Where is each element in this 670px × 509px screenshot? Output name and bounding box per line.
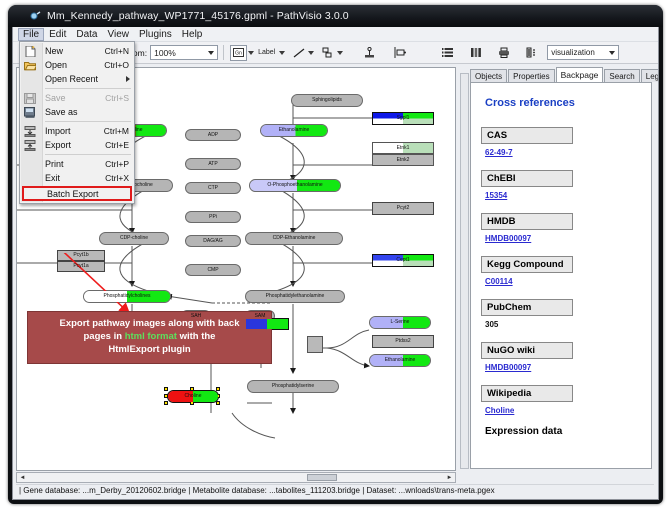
menu-item-open[interactable]: Open Ctrl+O [20,58,134,72]
menu-item-label: Save as [45,107,129,117]
expression-data-heading: Expression data [485,426,651,437]
xref-label: Kegg Compound [481,256,573,273]
align-left-icon[interactable] [391,45,408,61]
menubar: File Edit Data View Plugins Help [13,27,658,42]
panel-scrollbar[interactable] [460,73,469,469]
xref-label: ChEBI [481,170,573,187]
scroll-right-icon[interactable]: ► [444,473,455,482]
xref-label: CAS [481,127,573,144]
receptor-icon[interactable] [319,45,336,61]
visualization-combobox[interactable]: visualization [547,45,619,60]
expression-halo [267,319,288,329]
menu-item-accelerator: Ctrl+N [105,46,134,56]
xref-link[interactable]: Choline [485,406,514,415]
annotation-line3: HtmlExport plugin [108,344,190,355]
menu-separator [45,88,131,89]
menu-edit[interactable]: Edit [44,28,71,41]
node-choline-selected[interactable]: Choline [167,390,219,403]
menu-item-accelerator: Ctrl+O [104,60,134,70]
menu-item-accelerator: Ctrl+E [105,140,134,150]
menu-item-label: Batch Export [47,189,125,199]
save-icon [24,93,36,104]
window-titlebar: Mm_Kennedy_pathway_WP1771_45176.gpml - P… [8,5,663,27]
annotation-line2-highlight: html format [125,331,177,342]
print-icon[interactable] [495,45,512,61]
menu-item-accelerator: Ctrl+S [105,93,134,103]
chevron-down-icon [609,51,615,55]
xref-link[interactable]: 15354 [485,191,507,200]
scroll-left-icon[interactable]: ◄ [17,473,28,482]
xref-value[interactable]: 15354 [485,191,651,200]
xref-link[interactable]: HMDB00097 [485,363,531,372]
new-file-icon [24,46,36,57]
anchor-icon[interactable] [361,45,378,61]
menu-view[interactable]: View [102,28,134,41]
menu-item-import[interactable]: Import Ctrl+M [20,124,134,138]
menu-item-label: Open [45,60,104,70]
resize-handle[interactable] [216,401,220,405]
menu-file[interactable]: File [18,28,44,41]
node-etnk1[interactable]: Etnk1 [372,142,434,154]
node-etnk2[interactable]: Etnk2 [372,154,434,166]
pathvisio-icon [30,11,41,22]
chevron-down-icon[interactable] [337,51,343,55]
backpage-content: Cross references CAS 62-49-7 ChEBI 15354… [470,82,652,469]
tab-legend[interactable]: Legend [641,69,659,82]
menu-item-label: Export [45,140,105,150]
menu-item-accelerator: Ctrl+M [104,126,134,136]
cross-references-heading: Cross references [485,97,651,109]
window-title: Mm_Kennedy_pathway_WP1771_45176.gpml - P… [47,10,349,22]
node-sgpl1[interactable]: Sgpl1 [372,112,434,125]
chevron-down-icon[interactable] [279,51,285,55]
visualization-value: visualization [551,48,595,57]
node-ctp[interactable]: CTP [185,182,241,194]
resize-handle[interactable] [216,387,220,391]
xref-value: 305 [485,320,651,329]
zoom-combobox[interactable]: 100% [150,45,218,60]
table-icon[interactable] [467,45,484,61]
node-cdp-choline[interactable]: CDP-choline [99,232,169,245]
chevron-down-icon [208,51,214,55]
save-as-icon [24,107,36,118]
xref-row-chebi: ChEBI 15354 [481,168,651,200]
label-button[interactable]: Label [258,49,275,56]
xref-link[interactable]: HMDB00097 [485,234,531,243]
sidebar-icon[interactable] [523,45,540,61]
xref-row-kegg: Kegg Compound C00114 [481,254,651,286]
menu-item-batch-export[interactable]: Batch Export [22,186,132,201]
menu-item-label: Open Recent [45,74,126,84]
line-icon[interactable] [290,45,307,61]
panel-tabs: Objects Properties Backpage Search Legen… [470,67,654,82]
xref-value[interactable]: Choline [485,406,651,415]
node-ethanolamine-bottom[interactable]: Ethanolamine [369,354,431,367]
node-atp[interactable]: ATP [185,158,241,170]
menu-item-print[interactable]: Print Ctrl+P [20,157,134,171]
menu-item-new[interactable]: New Ctrl+N [20,44,134,58]
node-cdp-ethanolamine[interactable]: CDP-Ethanolamine [245,232,343,245]
canvas-horizontal-scrollbar[interactable]: ◄ ► [16,472,456,483]
menu-item-open-recent[interactable]: Open Recent [20,72,134,86]
zoom-value: 100% [154,48,176,58]
xref-row-hmdb: HMDB HMDB00097 [481,211,651,243]
menu-help[interactable]: Help [177,28,208,41]
svg-text:Gn: Gn [235,51,242,57]
menu-item-exit[interactable]: Exit Ctrl+X [20,171,134,185]
scrollbar-thumb[interactable] [307,474,337,481]
chevron-down-icon[interactable] [308,51,314,55]
menu-item-label: Save [45,93,105,103]
xref-value[interactable]: HMDB00097 [485,234,651,243]
menu-data[interactable]: Data [71,28,102,41]
node-ptdss2[interactable]: Ptdss2 [372,335,434,348]
node-dag-ag[interactable]: DAG/AG [185,235,241,247]
columns-icon[interactable] [439,45,456,61]
xref-label: Wikipedia [481,385,573,402]
file-menu-dropdown[interactable]: New Ctrl+N Open Ctrl+O Open Recent [19,41,135,204]
statusbar: ◄ ► | Gene database: ...m_Derby_20120602… [16,472,654,496]
menu-item-label: New [45,46,105,56]
node-l-serine[interactable]: L-Serine [369,316,431,329]
tab-properties[interactable]: Properties [508,69,554,82]
xref-label: PubChem [481,299,573,316]
annotation-callout: Export pathway images along with back pa… [27,311,272,364]
right-panel: Objects Properties Backpage Search Legen… [460,67,654,471]
screenshot-root: Mm_Kennedy_pathway_WP1771_45176.gpml - P… [0,0,670,509]
chevron-right-icon [126,76,130,82]
annotation-line1: Export pathway images along with back [59,318,239,329]
expression-halo [246,319,267,329]
xref-row-wikipedia: Wikipedia Choline [481,383,651,415]
resize-handle[interactable] [164,401,168,405]
menu-item-label: Print [45,159,105,169]
gene-product-icon[interactable]: Gn [230,45,247,61]
status-text: | Gene database: ...m_Derby_20120602.bri… [16,484,654,496]
menu-item-accelerator: Ctrl+X [105,173,134,183]
import-icon [24,126,36,137]
chevron-down-icon[interactable] [248,51,254,55]
annotation-line2-a: pages in [84,331,125,342]
menu-item-save[interactable]: Save Ctrl+S [20,91,134,105]
xref-row-nugo: NuGO wiki HMDB00097 [481,340,651,372]
export-icon [24,140,36,151]
menu-item-save-as[interactable]: Save as [20,105,134,119]
node-phosphatidylcholines[interactable]: Phosphatidylcholines [83,290,171,303]
menu-item-export[interactable]: Export Ctrl+E [20,138,134,152]
node-unnamed-box[interactable] [307,336,323,353]
tab-search[interactable]: Search [604,69,639,82]
tab-objects[interactable]: Objects [470,69,507,82]
xref-link[interactable]: C00114 [485,277,513,286]
xref-label: HMDB [481,213,573,230]
menu-separator [45,154,131,155]
xref-row-cas: CAS 62-49-7 [481,125,651,157]
node-cept1[interactable]: Cept1 [372,254,434,267]
client-area: File Edit Data View Plugins Help Zoom: 1… [12,27,659,500]
annotation-line2-b: with the [177,331,216,342]
node-phosphatidylethanolamine[interactable]: Phosphatidylethanolamine [245,290,345,303]
node-o-phosphoethanolamine[interactable]: O-Phosphoethanolamine [249,179,341,192]
xref-value[interactable]: HMDB00097 [485,363,651,372]
menu-item-label: Import [45,126,104,136]
application-window: Mm_Kennedy_pathway_WP1771_45176.gpml - P… [8,5,663,504]
xref-label: NuGO wiki [481,342,573,359]
open-folder-icon [24,60,36,71]
node-pcyt2[interactable]: Pcyt2 [372,202,434,215]
xref-row-pubchem: PubChem 305 [481,297,651,329]
node-pemt[interactable] [245,318,289,330]
node-phosphatidylserine[interactable]: Phosphatidylserine [247,380,339,393]
tab-backpage[interactable]: Backpage [556,67,604,82]
xref-value[interactable]: 62-49-7 [485,148,651,157]
menu-plugins[interactable]: Plugins [134,28,177,41]
xref-link[interactable]: 62-49-7 [485,148,513,157]
menu-separator [45,121,131,122]
node-ppi[interactable]: PPi [185,211,241,223]
node-sphingolipids[interactable]: Sphingolipids [291,94,363,107]
node-ethanolamine-top[interactable]: Ethanolamine [260,124,328,137]
resize-handle[interactable] [164,387,168,391]
xref-value[interactable]: C00114 [485,277,651,286]
node-adp[interactable]: ADP [185,129,241,141]
menu-item-accelerator: Ctrl+P [105,159,134,169]
toolbar-separator [223,45,224,60]
menu-item-label: Exit [45,173,105,183]
